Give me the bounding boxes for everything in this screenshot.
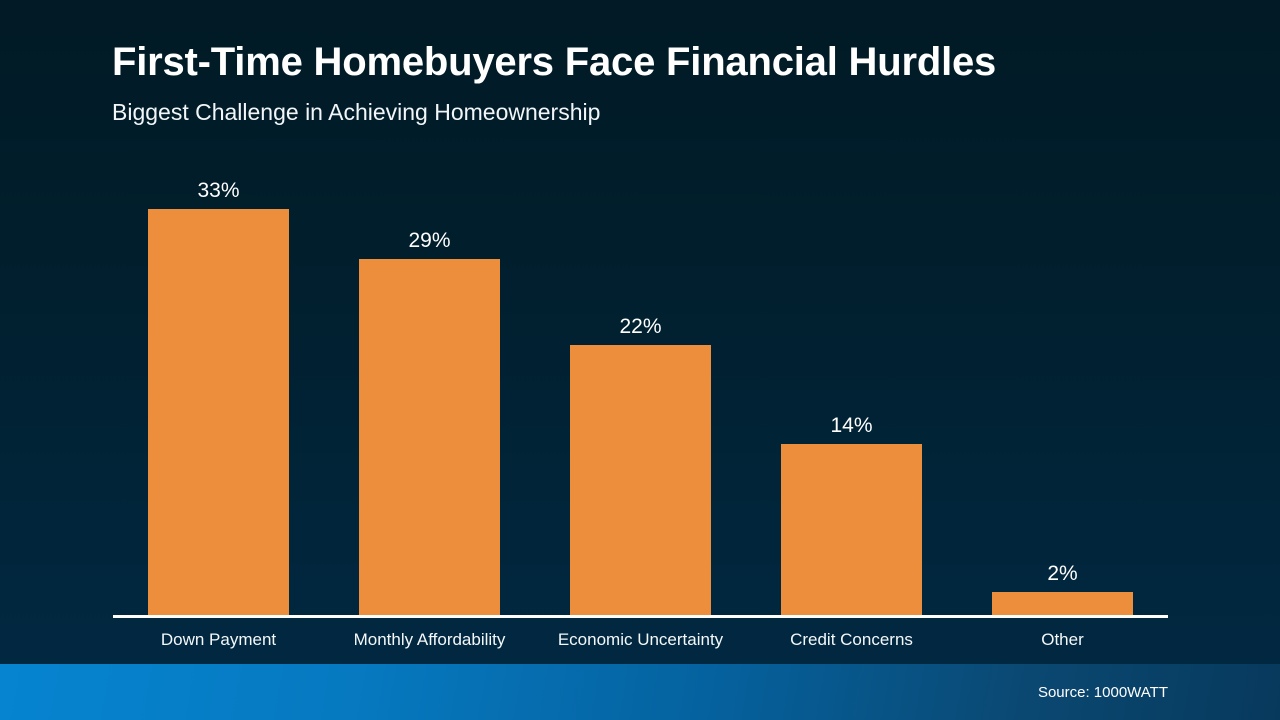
slide-canvas: First-Time Homebuyers Face Financial Hur… bbox=[0, 0, 1280, 720]
bar-value-label: 2% bbox=[1047, 562, 1077, 586]
source-attribution: Source: 1000WATT bbox=[1038, 684, 1168, 701]
bar-slot: 14% bbox=[746, 160, 957, 617]
bar-value-label: 33% bbox=[197, 179, 239, 203]
bar-slot: 29% bbox=[324, 160, 535, 617]
bar-down-payment[interactable]: 33% bbox=[148, 209, 289, 617]
bar-monthly-affordability[interactable]: 29% bbox=[359, 259, 500, 617]
x-tick-label-credit-concerns: Credit Concerns bbox=[746, 630, 957, 650]
bar-slot: 33% bbox=[113, 160, 324, 617]
page-title: First-Time Homebuyers Face Financial Hur… bbox=[112, 40, 1212, 85]
bar-value-label: 14% bbox=[830, 414, 872, 438]
page-subtitle: Biggest Challenge in Achieving Homeowner… bbox=[112, 99, 1212, 125]
bar-slot: 2% bbox=[957, 160, 1168, 617]
bar-value-label: 22% bbox=[619, 315, 661, 339]
slide-header: First-Time Homebuyers Face Financial Hur… bbox=[112, 40, 1212, 125]
bar-credit-concerns[interactable]: 14% bbox=[781, 444, 922, 617]
x-tick-label-economic-uncertainty: Economic Uncertainty bbox=[535, 630, 746, 650]
x-tick-label-monthly-affordability: Monthly Affordability bbox=[324, 630, 535, 650]
bar-series: 33% 29% 22% 14% 2% bbox=[113, 160, 1168, 617]
x-tick-label-other: Other bbox=[957, 630, 1168, 650]
slide-footer-bar: Source: 1000WATT bbox=[0, 664, 1280, 720]
x-axis-tick-labels: Down Payment Monthly Affordability Econo… bbox=[113, 630, 1168, 650]
bar-slot: 22% bbox=[535, 160, 746, 617]
x-axis-line bbox=[113, 615, 1168, 618]
bar-other[interactable]: 2% bbox=[992, 592, 1133, 617]
bar-economic-uncertainty[interactable]: 22% bbox=[570, 345, 711, 617]
x-tick-label-down-payment: Down Payment bbox=[113, 630, 324, 650]
bar-chart-plot-area: 33% 29% 22% 14% 2% bbox=[113, 160, 1168, 618]
bar-value-label: 29% bbox=[408, 229, 450, 253]
